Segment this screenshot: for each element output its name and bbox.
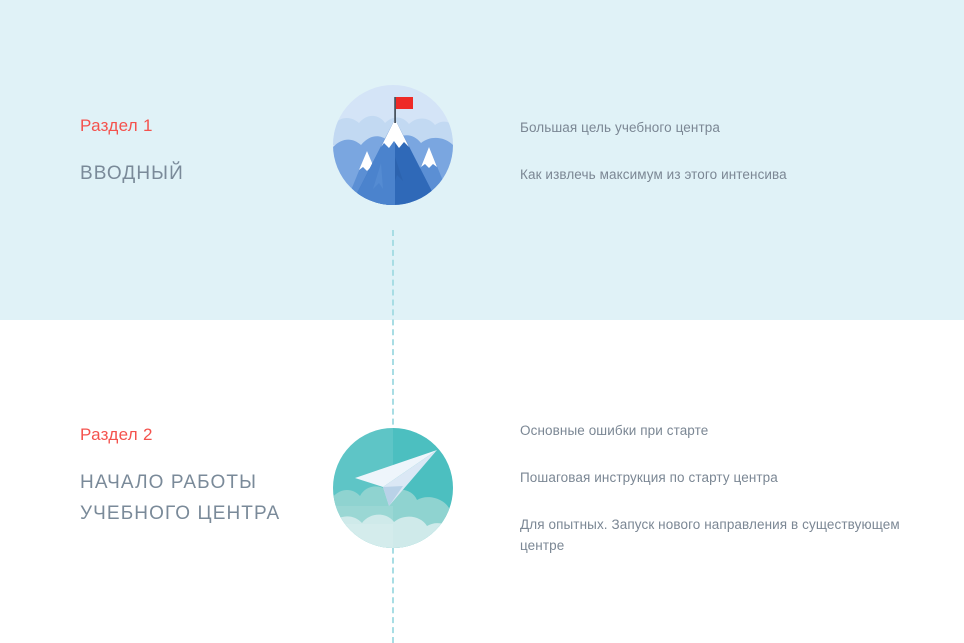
section-1-kicker: Раздел 1	[80, 117, 330, 134]
section-2-title: НАЧАЛО РАБОТЫ УЧЕБНОГО ЦЕНТРА	[80, 467, 330, 529]
paper-plane-clouds-icon	[333, 428, 453, 548]
mountain-peak-flag-icon	[333, 85, 453, 205]
list-item: Для опытных. Запуск нового направления в…	[520, 514, 920, 556]
list-item: Большая цель учебного центра	[520, 117, 920, 138]
section-2-heading-group: Раздел 2 НАЧАЛО РАБОТЫ УЧЕБНОГО ЦЕНТРА	[80, 426, 330, 529]
section-1: Раздел 1 ВВОДНЫЙ	[0, 85, 964, 265]
list-item: Пошаговая инструкция по старту центра	[520, 467, 920, 488]
list-item: Основные ошибки при старте	[520, 420, 920, 441]
section-2: Раздел 2 НАЧАЛО РАБОТЫ УЧЕБНОГО ЦЕНТРА	[0, 420, 964, 600]
course-outline-page: Раздел 1 ВВОДНЫЙ	[0, 0, 964, 643]
section-1-title: ВВОДНЫЙ	[80, 158, 330, 189]
section-2-bullet-list: Основные ошибки при старте Пошаговая инс…	[520, 420, 920, 556]
section-2-title-line-1: НАЧАЛО РАБОТЫ	[80, 467, 330, 498]
section-2-kicker: Раздел 2	[80, 426, 330, 443]
section-1-title-line-1: ВВОДНЫЙ	[80, 158, 330, 189]
list-item: Как извлечь максимум из этого интенсива	[520, 164, 920, 185]
section-2-title-line-2: УЧЕБНОГО ЦЕНТРА	[80, 498, 330, 529]
section-1-heading-group: Раздел 1 ВВОДНЫЙ	[80, 117, 330, 189]
section-1-bullet-list: Большая цель учебного центра Как извлечь…	[520, 117, 920, 185]
